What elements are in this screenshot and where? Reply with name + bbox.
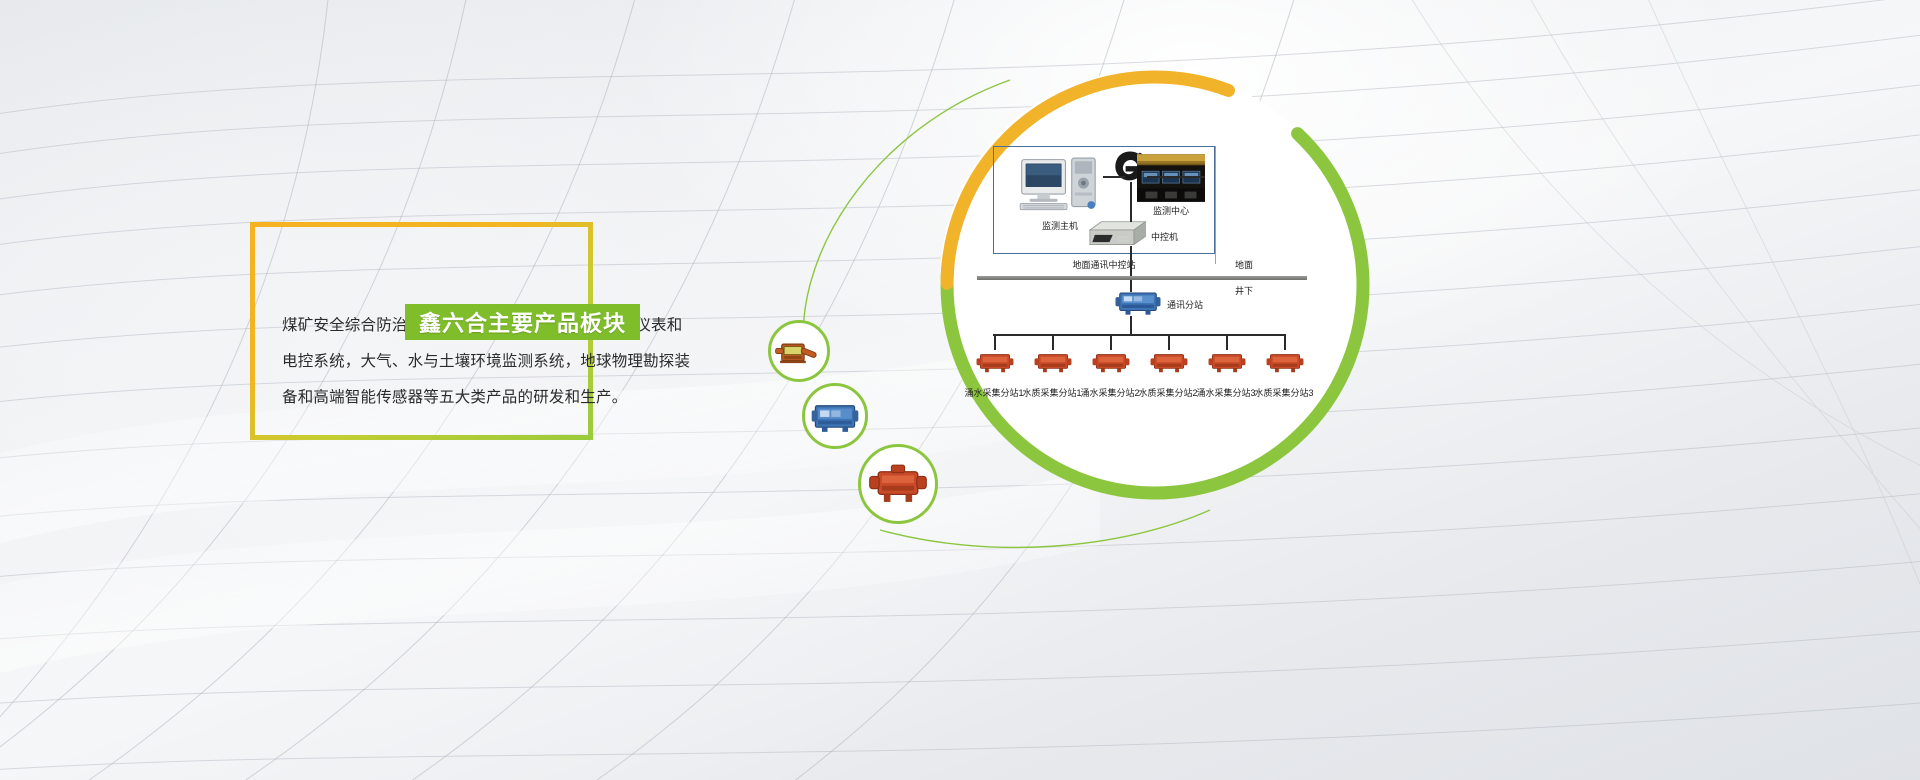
substation-node-3[interactable] xyxy=(1091,350,1131,376)
substation-label-2: 水质采集分站1 xyxy=(1022,386,1081,399)
red-explosion-proof-box-icon xyxy=(1033,350,1073,376)
diagram-vertical-divider xyxy=(1215,146,1216,264)
topology-diagram: 监测主机 xyxy=(965,98,1340,468)
red-pump-device-icon xyxy=(865,451,931,517)
zone-label-above: 地面 xyxy=(1235,258,1253,271)
ground-comm-control-station-label: 地面通讯中控站 xyxy=(1072,258,1135,271)
substation-node-6[interactable] xyxy=(1265,350,1305,376)
video-wall-icon xyxy=(1137,154,1205,202)
body-line-3: 备和高端智能传感器等五大类产品的研发和生产。 xyxy=(282,380,700,416)
ground-surface-line xyxy=(977,276,1307,280)
substation-node-1[interactable] xyxy=(975,350,1015,376)
comm-substation-node[interactable]: 通讯分站 xyxy=(1113,288,1163,318)
substation-label-row: 涌水采集分站1 水质采集分站1 涌水采集分站2 水质采集分站2 涌水采集分站3 … xyxy=(975,386,1325,402)
product-intro-panel: 鑫六合主要产品板块 煤矿安全综合防治系统（水害防治），工程机械智能仪表和 电控系… xyxy=(250,222,593,440)
red-explosion-proof-box-icon xyxy=(1207,350,1247,376)
substation-label-5: 涌水采集分站3 xyxy=(1196,386,1255,399)
central-control-label: 中控机 xyxy=(1151,230,1178,243)
substation-bus-line xyxy=(993,334,1285,336)
comm-substation-label: 通讯分站 xyxy=(1167,298,1203,311)
substation-label-3: 涌水采集分站2 xyxy=(1080,386,1139,399)
bubble-blue-control-box[interactable] xyxy=(802,383,868,449)
system-architecture-illustration: 监测主机 xyxy=(760,60,1380,560)
drop-wire-4 xyxy=(1168,334,1170,350)
substation-label-1: 涌水采集分站1 xyxy=(964,386,1023,399)
blue-explosion-proof-box-icon xyxy=(1113,288,1163,318)
substation-icon-row xyxy=(975,350,1325,384)
drop-wire-2 xyxy=(1052,334,1054,350)
body-line-2: 电控系统，大气、水与土壤环境监测系统，地球物理勘探装 xyxy=(282,344,700,380)
substation-node-2[interactable] xyxy=(1033,350,1073,376)
wire-logo-to-router xyxy=(1130,182,1132,222)
red-explosion-proof-box-icon xyxy=(1091,350,1131,376)
drop-wire-5 xyxy=(1226,334,1228,350)
drop-wire-6 xyxy=(1284,334,1286,350)
monitor-center-label: 监测中心 xyxy=(1153,204,1189,217)
page-title: 鑫六合主要产品板块 xyxy=(419,306,626,338)
substation-node-5[interactable] xyxy=(1207,350,1247,376)
blue-control-box-icon xyxy=(807,388,863,444)
brown-sensor-device-icon xyxy=(773,325,825,377)
substation-label-6: 水质采集分站3 xyxy=(1254,386,1313,399)
monitor-host-node[interactable]: 监测主机 xyxy=(1017,156,1103,218)
monitor-host-label: 监测主机 xyxy=(1042,219,1078,232)
substation-label-4: 水质采集分站2 xyxy=(1138,386,1197,399)
panel-title-banner: 鑫六合主要产品板块 xyxy=(405,304,640,340)
bubble-red-pump-device[interactable] xyxy=(858,444,938,524)
central-control-node[interactable]: 中控机 xyxy=(1085,220,1147,248)
zone-label-below: 井下 xyxy=(1235,284,1253,297)
red-explosion-proof-box-icon xyxy=(1265,350,1305,376)
drop-wire-1 xyxy=(994,334,996,350)
red-explosion-proof-box-icon xyxy=(1149,350,1189,376)
wire-pc-to-logo xyxy=(1103,176,1125,178)
wire-logo-to-center xyxy=(1147,176,1205,178)
substation-node-4[interactable] xyxy=(1149,350,1189,376)
monitor-center-node[interactable]: 监测中心 xyxy=(1137,154,1205,202)
server-switch-icon xyxy=(1085,220,1147,248)
red-explosion-proof-box-icon xyxy=(975,350,1015,376)
drop-wire-3 xyxy=(1110,334,1112,350)
bubble-brown-sensor[interactable] xyxy=(768,320,830,382)
desktop-computer-icon xyxy=(1017,156,1103,218)
wire-comm-to-bus xyxy=(1130,316,1132,336)
